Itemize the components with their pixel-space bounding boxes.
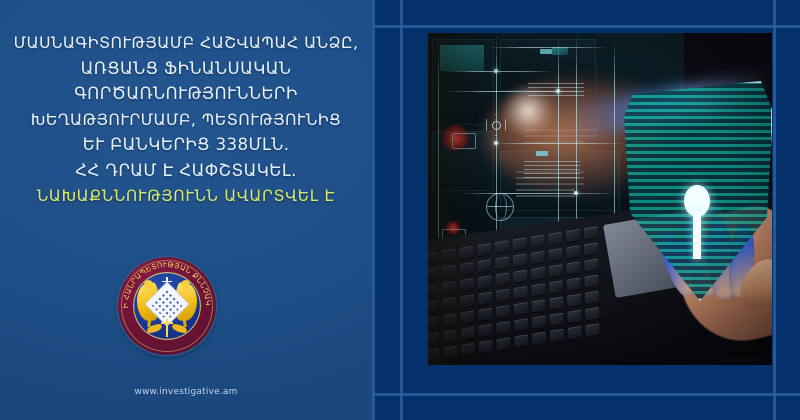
photo-vignette-overlay xyxy=(428,33,772,365)
grid-line-vertical xyxy=(372,0,375,420)
website-url[interactable]: www.investigative.am xyxy=(0,387,372,397)
headline-line-1: ՄԱՍՆԱԳԻՏՈՒԹՅԱՄԲ ՀԱՇՎԱՊԱՀ ԱՆՁԸ, xyxy=(6,30,366,56)
grid-line-vertical xyxy=(773,0,776,420)
left-panel: ՄԱՍՆԱԳԻՏՈՒԹՅԱՄԲ ՀԱՇՎԱՊԱՀ ԱՆՁԸ, ԱՌՑԱՆՑ ՖԻ… xyxy=(0,0,372,420)
photo-content xyxy=(428,33,772,365)
headline-block: ՄԱՍՆԱԳԻՏՈՒԹՅԱՄԲ ՀԱՇՎԱՊԱՀ ԱՆՁԸ, ԱՌՑԱՆՑ ՖԻ… xyxy=(0,30,372,209)
emblem-disc: ՀԱՅԱՍՏԱՆԻ ՀԱՆՐԱՊԵՏՈՒԹՅԱՆ ՔՆՆՉԱԿԱՆ ԿՈՄԻՏԵ xyxy=(118,257,216,355)
headline-line-2: ԱՌՑԱՆՑ ՖԻՆԱՆՍԱԿԱՆ xyxy=(6,56,366,82)
emblem-inner-disc xyxy=(133,272,201,340)
headline-line-3: ԳՈՐԾԱՌՆՈՒԹՅՈՒՆՆԵՐԻ xyxy=(6,81,366,107)
eagle-head-left xyxy=(144,280,153,289)
cyber-security-photo xyxy=(428,33,772,365)
headline-line-5: ԵՒ ԲԱՆԿԵՐԻՑ 338ՄԼՆ. xyxy=(6,132,366,158)
grid-line-vertical xyxy=(400,0,403,420)
grid-line-horizontal xyxy=(372,25,800,28)
headline-line-4: ԽԵՂԱԹՅՈՒՐՄԱՄԲ, ՊԵՏՈՒԹՅՈՒՆԻՑ xyxy=(6,107,366,133)
wreath-icon xyxy=(147,323,187,335)
wreath-leaf-right xyxy=(171,324,187,334)
headline-line-7: ՆԱԽԱՔՆՆՈՒԹՅՈՒՆՆ ԱՎԱՐՏՎԵԼ Է xyxy=(6,184,366,210)
wreath-leaf-left xyxy=(146,324,162,334)
poster-root: ՄԱՍՆԱԳԻՏՈՒԹՅԱՄԲ ՀԱՇՎԱՊԱՀ ԱՆՁԸ, ԱՌՑԱՆՑ ՖԻ… xyxy=(0,0,800,420)
grid-line-horizontal xyxy=(372,393,800,396)
headline-line-6: ՀՀ ԴՐԱՄ Է ՀԱՓՇՏԱԿԵԼ. xyxy=(6,158,366,184)
eagle-head-right xyxy=(181,280,190,289)
investigative-committee-emblem: ՀԱՅԱՍՏԱՆԻ ՀԱՆՐԱՊԵՏՈՒԹՅԱՆ ՔՆՆՉԱԿԱՆ ԿՈՄԻՏԵ xyxy=(118,257,216,355)
